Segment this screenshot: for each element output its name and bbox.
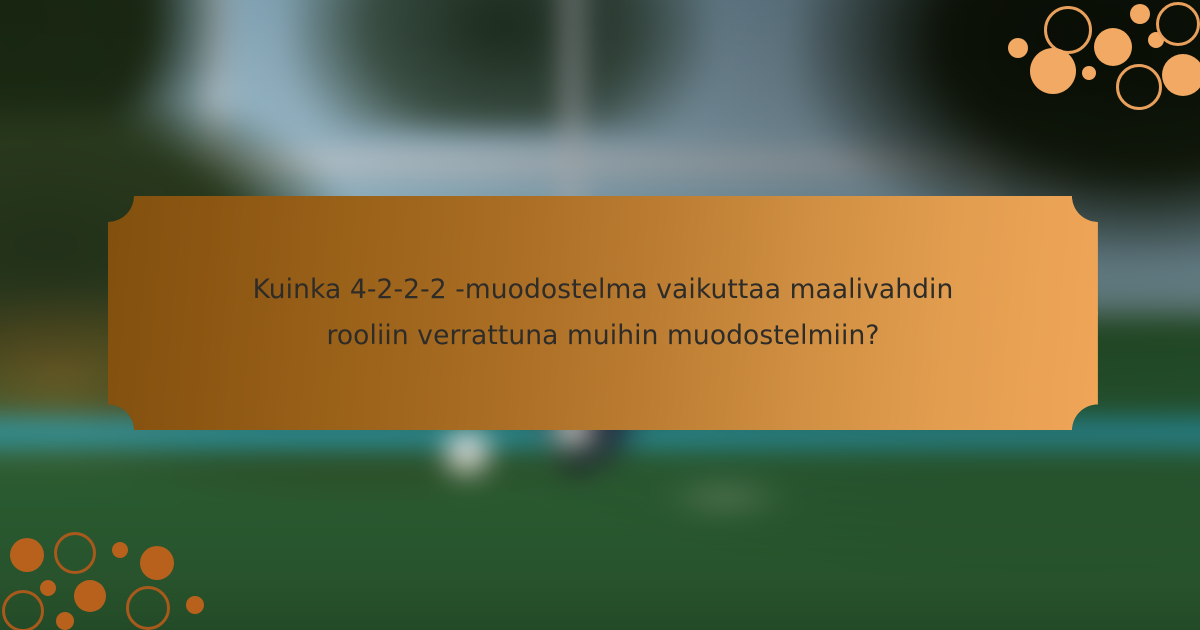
tree-foliage-center bbox=[290, 0, 710, 130]
goal-post-center bbox=[562, 0, 582, 220]
share-card-canvas: Kuinka 4-2-2-2 -muodostelma vaikuttaa ma… bbox=[0, 0, 1200, 630]
player-shoe-right bbox=[552, 446, 600, 480]
question-text: Kuinka 4-2-2-2 -muodostelma vaikuttaa ma… bbox=[223, 267, 983, 359]
question-card: Kuinka 4-2-2-2 -muodostelma vaikuttaa ma… bbox=[108, 196, 1098, 430]
soccer-ball bbox=[446, 432, 490, 474]
field-scuff-mark bbox=[660, 480, 790, 514]
